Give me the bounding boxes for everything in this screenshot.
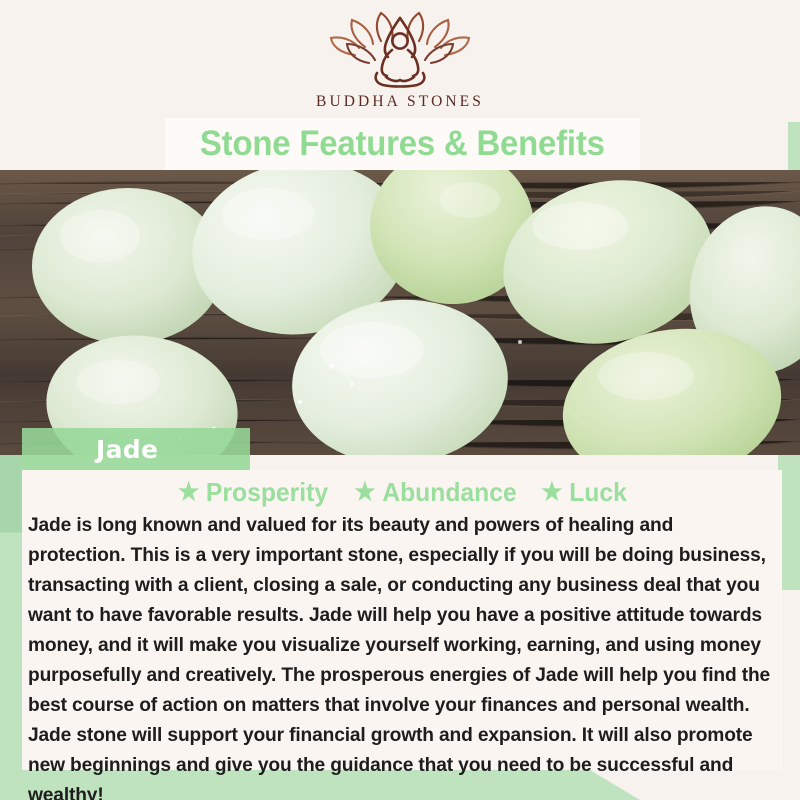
keyword-badges: ★ Prosperity ★ Abundance ★ Luck — [22, 470, 782, 508]
keyword-badge-luck: ★ Luck — [542, 477, 628, 508]
keyword-badge-prosperity: ★ Prosperity — [178, 477, 328, 508]
star-icon: ★ — [355, 480, 376, 505]
brand-name: BUDDHA STONES — [316, 93, 484, 111]
poster-canvas: BUDDHA STONES Stone Features & Benefits — [0, 0, 800, 800]
title-band: Stone Features & Benefits — [165, 118, 640, 170]
star-icon: ★ — [542, 480, 563, 505]
stone-name-bar: Jade — [22, 428, 250, 470]
brand-logo-block: BUDDHA STONES — [0, 0, 800, 122]
keyword-badge-abundance: ★ Abundance — [355, 477, 517, 508]
keyword-label: Prosperity — [206, 477, 328, 508]
photo-illustration — [0, 170, 800, 455]
lotus-meditation-figure-icon — [325, 11, 475, 89]
hero-photo-jade-stones — [0, 170, 800, 455]
stone-name-label: Jade — [96, 435, 158, 464]
content-panel: ★ Prosperity ★ Abundance ★ Luck Jade is … — [22, 470, 782, 770]
page-title: Stone Features & Benefits — [200, 124, 605, 164]
keyword-label: Abundance — [383, 477, 517, 508]
keyword-label: Luck — [570, 477, 628, 508]
stone-description: Jade is long known and valued for its be… — [22, 511, 782, 800]
star-icon: ★ — [178, 480, 199, 505]
